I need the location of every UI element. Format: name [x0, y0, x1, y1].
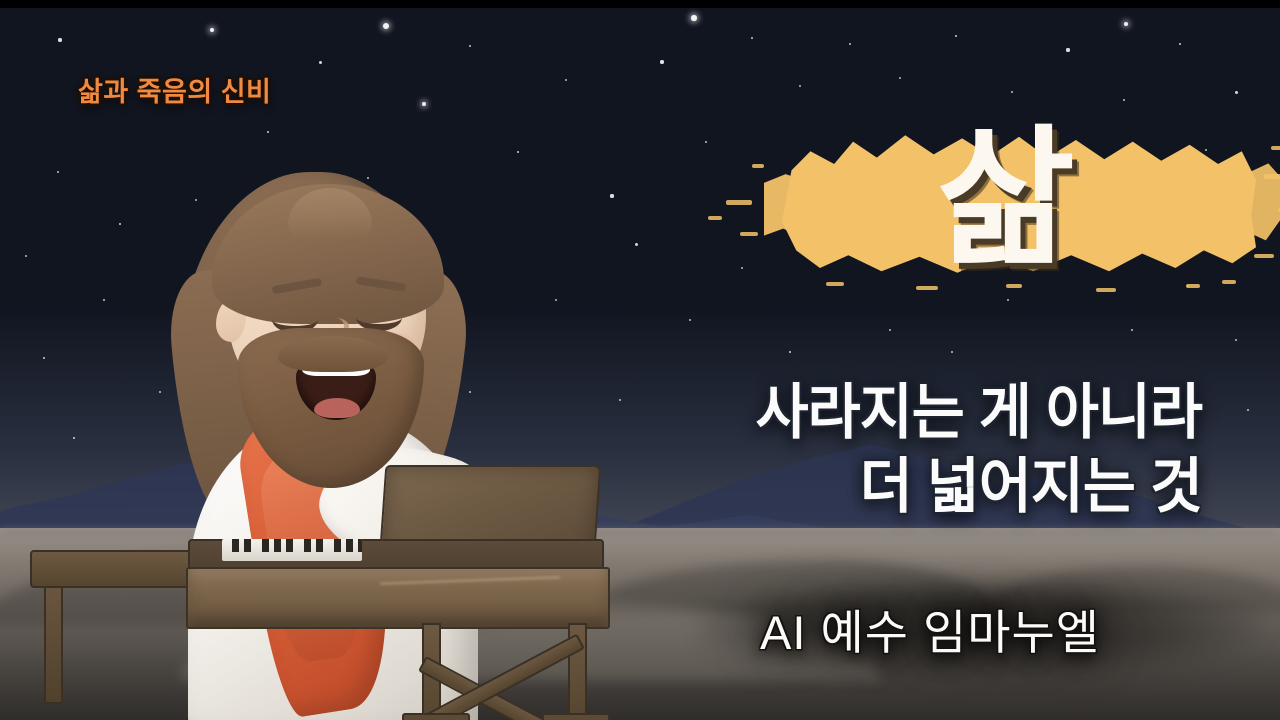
piano-keys	[222, 539, 362, 561]
piano-black-key	[274, 539, 281, 552]
wooden-keyboard-piano	[170, 455, 630, 720]
kicker-text: 삶과 죽음의 신비	[78, 70, 271, 109]
star	[267, 131, 270, 134]
star	[660, 60, 663, 63]
brush-fleck	[752, 164, 764, 168]
piano-black-key	[232, 539, 239, 552]
star	[1011, 91, 1013, 93]
piano-black-key	[286, 539, 293, 552]
headline-block: 사라지는 게 아니라 더 넓어지는 것	[562, 376, 1202, 524]
bench-leg-left	[44, 582, 63, 704]
star	[1131, 329, 1133, 331]
star	[1235, 339, 1237, 341]
star	[25, 255, 27, 257]
star	[889, 329, 891, 331]
headline-line-2: 더 넓어지는 것	[588, 450, 1202, 524]
star	[705, 141, 707, 143]
star	[741, 267, 743, 269]
star	[1123, 99, 1125, 101]
piano-black-key	[244, 539, 251, 552]
brush-fleck	[1186, 284, 1200, 288]
piano-foot-left	[402, 713, 470, 720]
brush-fleck	[1222, 280, 1236, 284]
star	[1066, 48, 1069, 51]
star	[383, 23, 390, 30]
brush-fleck	[1254, 254, 1274, 258]
star	[57, 171, 59, 173]
brush-fleck	[726, 200, 752, 205]
headline-line-1: 사라지는 게 아니라	[588, 376, 1202, 450]
star	[849, 43, 851, 45]
piano-foot-right	[542, 713, 610, 720]
star	[1247, 409, 1249, 411]
star	[422, 102, 426, 106]
star	[789, 351, 792, 354]
star	[689, 319, 691, 321]
star	[951, 351, 953, 353]
star	[210, 28, 214, 32]
star	[1179, 43, 1182, 46]
tongue	[314, 398, 360, 418]
star	[58, 38, 61, 41]
brush-fleck	[708, 216, 722, 220]
thumbnail-canvas: 삶 삶과 죽음의 신비 사라지는 게 아니라 더 넓어지는 것 AI 예수 임마…	[0, 0, 1280, 720]
piano-black-key	[262, 539, 269, 552]
piano-black-key	[304, 539, 311, 552]
piano-black-key	[346, 539, 353, 552]
star	[73, 437, 76, 440]
eye-right-closed	[356, 304, 402, 331]
star	[43, 357, 46, 360]
piano-black-key	[334, 539, 341, 552]
star	[319, 61, 322, 64]
star	[955, 35, 958, 38]
brush-word-sam: 삶	[900, 118, 1110, 288]
brush-word-text: 삶	[900, 118, 1110, 288]
brush-fleck	[1096, 288, 1116, 292]
brush-fleck	[826, 282, 844, 286]
star	[751, 37, 754, 40]
byline-text: AI 예수 임마누엘	[760, 594, 1100, 663]
star	[799, 85, 801, 87]
brush-fleck	[740, 232, 758, 236]
star	[469, 45, 471, 47]
star	[1124, 22, 1128, 26]
brush-fleck	[1271, 146, 1280, 150]
piano-black-key	[316, 539, 323, 552]
piano-black-key	[358, 539, 362, 552]
star	[899, 77, 901, 79]
mustache	[278, 336, 388, 372]
star	[691, 15, 696, 20]
star	[103, 299, 105, 301]
star	[1235, 91, 1238, 94]
star	[1007, 299, 1009, 301]
letterbox-top-bar	[0, 0, 1280, 8]
brush-fleck	[1264, 174, 1280, 179]
star	[565, 79, 567, 81]
